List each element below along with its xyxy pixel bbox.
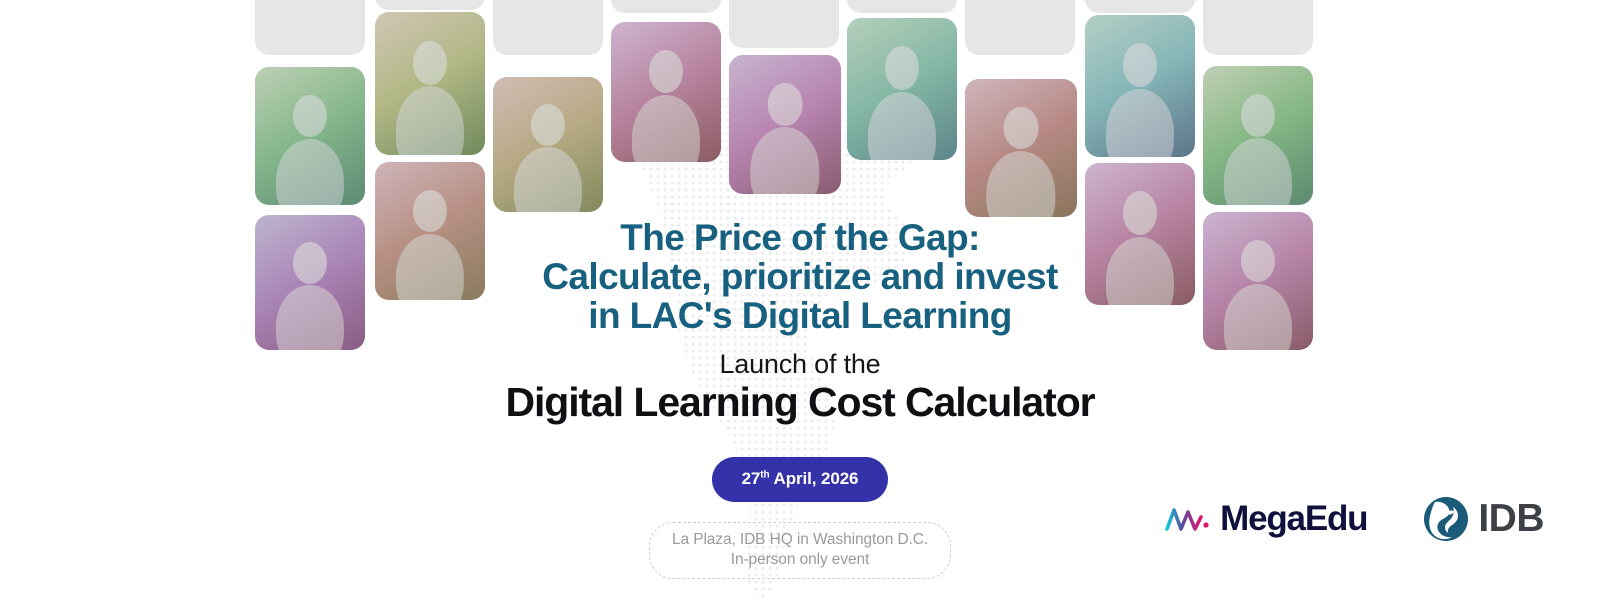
date-rest: April, 2026 bbox=[770, 469, 859, 488]
subhead-eyebrow: Launch of the bbox=[0, 349, 1600, 379]
photo-subject-silhouette bbox=[632, 95, 700, 162]
page-title: The Price of the Gap: Calculate, priorit… bbox=[0, 218, 1600, 335]
tile-c6-top bbox=[847, 0, 957, 13]
tile-c1-mid bbox=[255, 67, 365, 205]
headline-line-1: The Price of the Gap: bbox=[0, 218, 1600, 257]
date-badge[interactable]: 27th April, 2026 bbox=[712, 457, 889, 502]
tile-c9-top bbox=[1203, 0, 1313, 55]
photo-subject-silhouette bbox=[986, 151, 1055, 217]
photo-subject-silhouette bbox=[396, 86, 464, 155]
photo-boy-and-teacher-at-laptop bbox=[493, 77, 603, 212]
tile-c6-mid bbox=[847, 18, 957, 160]
megaedu-wordmark: MegaEdu bbox=[1220, 499, 1367, 539]
venue-box: La Plaza, IDB HQ in Washington D.C. In-p… bbox=[649, 522, 951, 579]
photo-girl-holding-phone-in-library bbox=[255, 67, 365, 205]
idb-globe-icon bbox=[1423, 496, 1469, 542]
tile-c4-mid bbox=[611, 22, 721, 162]
headline-line-3: in LAC's Digital Learning bbox=[0, 296, 1600, 335]
tile-c5-mid bbox=[729, 55, 841, 194]
tile-c2-mid bbox=[375, 12, 485, 155]
photo-subject-head bbox=[1004, 107, 1039, 150]
photo-subject-silhouette bbox=[750, 127, 819, 194]
megaedu-logo[interactable]: MegaEdu bbox=[1165, 499, 1367, 539]
date-day: 27 bbox=[742, 469, 761, 488]
tile-c4-top bbox=[611, 0, 721, 13]
photo-subject-silhouette bbox=[276, 139, 344, 205]
photo-man-with-headset-writing bbox=[611, 22, 721, 162]
tile-c8-mid bbox=[1085, 15, 1195, 157]
photo-subject-head bbox=[1123, 43, 1157, 87]
photo-subject-silhouette bbox=[1224, 138, 1292, 205]
venue-line-2: In-person only event bbox=[672, 550, 928, 570]
tile-c2-top bbox=[375, 0, 485, 10]
photo-boy-with-tablet-by-window bbox=[847, 18, 957, 160]
photo-subject-head bbox=[413, 41, 447, 85]
photo-teen-with-earbuds-at-computer bbox=[1085, 15, 1195, 157]
tile-c7-top bbox=[965, 0, 1075, 55]
photo-girl-at-computer-lab bbox=[965, 79, 1077, 217]
photo-subject-head bbox=[885, 46, 919, 90]
photo-subject-head bbox=[649, 50, 683, 93]
venue-line-1: La Plaza, IDB HQ in Washington D.C. bbox=[672, 530, 928, 550]
headline-line-2: Calculate, prioritize and invest bbox=[0, 257, 1600, 296]
tile-c7-mid bbox=[965, 79, 1077, 217]
photo-subject-silhouette bbox=[868, 92, 936, 160]
event-banner: The Price of the Gap: Calculate, priorit… bbox=[0, 0, 1600, 600]
idb-wordmark: IDB bbox=[1478, 497, 1544, 541]
photo-subject-head bbox=[531, 104, 565, 146]
tile-c8-top bbox=[1085, 0, 1195, 13]
tile-c1-top bbox=[255, 0, 365, 55]
tile-c3-top bbox=[493, 0, 603, 55]
photo-subject-head bbox=[768, 83, 803, 126]
photo-girl-in-pink-jacket-with-book bbox=[375, 12, 485, 155]
product-name: Digital Learning Cost Calculator bbox=[0, 378, 1600, 426]
photo-subject-silhouette bbox=[1106, 89, 1174, 157]
photo-subject-silhouette bbox=[514, 147, 582, 212]
photo-woman-in-yellow-top-with-laptop bbox=[1203, 66, 1313, 205]
tile-c3-mid bbox=[493, 77, 603, 212]
tile-c5-top bbox=[729, 0, 839, 48]
photo-boy-in-yellow-hoodie-at-computer bbox=[729, 55, 841, 194]
logo-row: MegaEdu IDB bbox=[1165, 496, 1544, 542]
photo-subject-head bbox=[293, 95, 327, 138]
date-ordinal: th bbox=[760, 469, 769, 480]
wave-gradient-icon bbox=[1165, 504, 1211, 534]
tile-c9-mid bbox=[1203, 66, 1313, 205]
photo-subject-head bbox=[1241, 94, 1275, 137]
idb-logo[interactable]: IDB bbox=[1423, 496, 1544, 542]
